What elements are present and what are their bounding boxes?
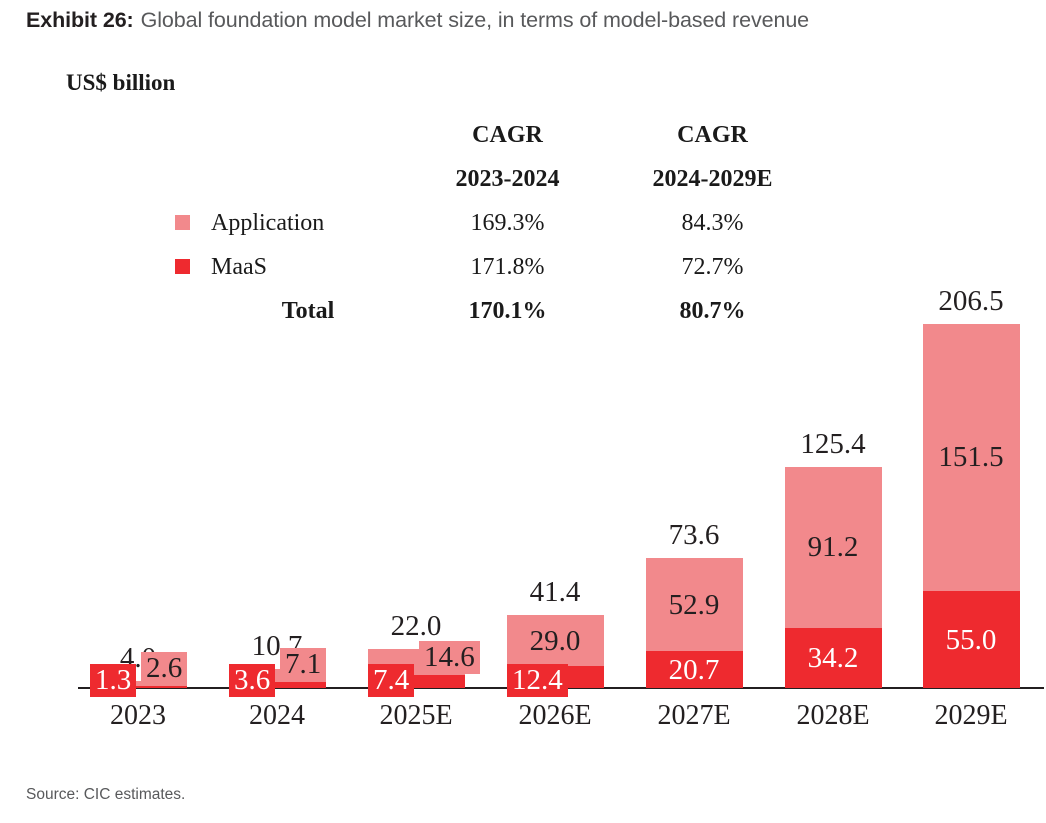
x-tick-2026e: 2026E: [475, 700, 635, 732]
x-tick-2024: 2024: [197, 700, 357, 732]
value-label-application-2027e: 52.9: [614, 590, 774, 620]
x-tick-2023: 2023: [58, 700, 218, 732]
value-label-maas-2023: 1.3: [90, 664, 136, 697]
x-tick-2025e: 2025E: [336, 700, 496, 732]
value-label-application-2024: 7.1: [280, 648, 326, 681]
total-label-2029e: 206.5: [891, 286, 1046, 316]
source-note: Source: CIC estimates.: [26, 786, 185, 804]
value-label-application-2028e: 91.2: [753, 532, 913, 562]
value-label-maas-2028e: 34.2: [753, 643, 913, 673]
total-label-2027e: 73.6: [614, 520, 774, 550]
total-label-2024: 10.7: [197, 631, 357, 661]
total-label-2023: 4.0: [58, 643, 218, 673]
total-label-2028e: 125.4: [753, 429, 913, 459]
value-label-maas-2024: 3.6: [229, 664, 275, 697]
bar-chart: 4.02.61.310.77.13.622.014.67.441.429.012…: [0, 0, 1046, 760]
value-label-application-2025e: 14.6: [419, 641, 480, 674]
value-label-maas-2026e: 12.4: [507, 664, 568, 697]
x-tick-2027e: 2027E: [614, 700, 774, 732]
total-label-2026e: 41.4: [475, 577, 635, 607]
value-label-maas-2025e: 7.4: [368, 664, 414, 697]
value-label-maas-2027e: 20.7: [614, 655, 774, 685]
x-tick-2029e: 2029E: [891, 700, 1046, 732]
value-label-application-2023: 2.6: [141, 652, 187, 685]
value-label-application-2029e: 151.5: [891, 442, 1046, 472]
value-label-maas-2029e: 55.0: [891, 625, 1046, 655]
value-label-application-2026e: 29.0: [475, 626, 635, 656]
total-label-2025e: 22.0: [336, 611, 496, 641]
x-tick-2028e: 2028E: [753, 700, 913, 732]
